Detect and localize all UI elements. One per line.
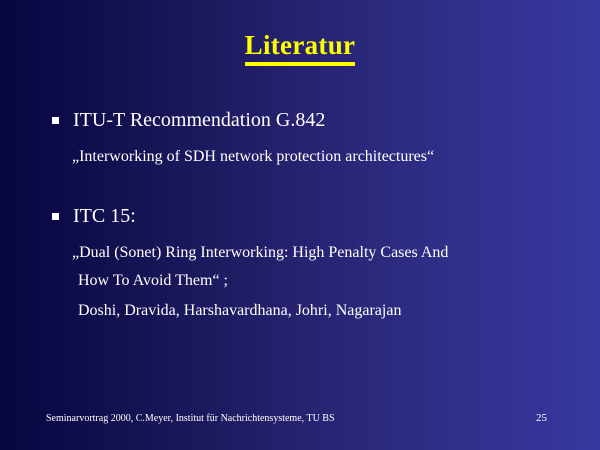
citation-authors: Doshi, Dravida, Harshavardhana, Johri, N… bbox=[78, 300, 401, 322]
list-item: ITU-T Recommendation G.842 bbox=[52, 108, 325, 132]
page-title: Literatur bbox=[245, 30, 356, 66]
list-item: ITC 15: bbox=[52, 204, 136, 228]
list-item-label: ITC 15: bbox=[73, 204, 136, 228]
citation-line: How To Avoid Them“ ; bbox=[78, 270, 228, 292]
citation-line: „Interworking of SDH network protection … bbox=[72, 146, 434, 168]
page-number: 25 bbox=[536, 411, 547, 425]
slide-title-block: Literatur bbox=[0, 30, 600, 66]
presentation-slide: Literatur ITU-T Recommendation G.842 „In… bbox=[0, 0, 600, 450]
bullet-square-icon bbox=[52, 117, 59, 124]
bullet-square-icon bbox=[52, 213, 59, 220]
slide-body: ITU-T Recommendation G.842 „Interworking… bbox=[0, 100, 600, 360]
list-item-label: ITU-T Recommendation G.842 bbox=[73, 108, 325, 132]
citation-line: „Dual (Sonet) Ring Interworking: High Pe… bbox=[72, 242, 448, 264]
slide-footer: Seminarvortrag 2000, C.Meyer, Institut f… bbox=[46, 412, 335, 426]
